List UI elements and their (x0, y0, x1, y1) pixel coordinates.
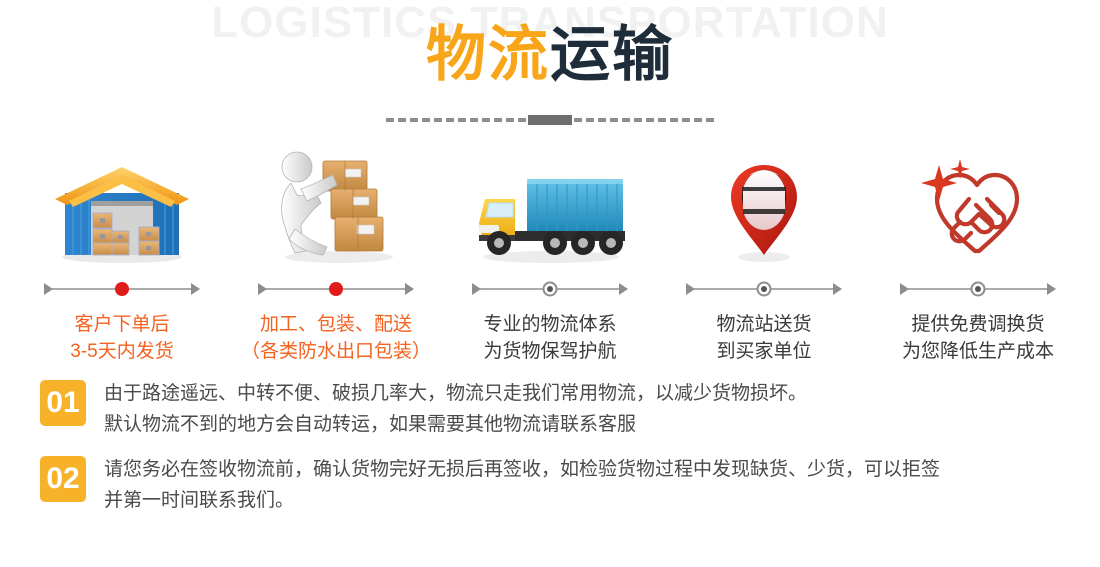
note-item-02: 02 请您务必在签收物流前，确认货物完好无损后再签收，如检验货物过程中发现缺货、… (40, 454, 1100, 516)
title-divider (0, 112, 1100, 128)
page-header: LOGISTICS TRANSPORTATION 物流运输 (0, 0, 1100, 145)
feature-item-exchange[interactable]: 提供免费调换货 为您降低生产成本 (874, 145, 1082, 365)
note-line2: 并第一时间联系我们。 (104, 485, 940, 516)
divider-dash-left (386, 118, 526, 122)
note-line2: 默认物流不到的地方会自动转运，如果需要其他物流请联系客服 (104, 409, 807, 440)
notes-list: 01 由于路途遥远、中转不便、破损几率大，物流只走我们常用物流，以减少货物损坏。… (0, 370, 1100, 516)
divider-block (528, 115, 572, 125)
feature-caption-line2: 到买家单位 (716, 338, 811, 365)
feature-slider-5 (898, 279, 1058, 299)
page-root: LOGISTICS TRANSPORTATION 物流运输 (0, 0, 1100, 567)
feature-caption-line2: （各类防水出口包装） (241, 338, 431, 365)
feature-caption-line2: 为您降低生产成本 (902, 338, 1054, 365)
feature-caption-1: 客户下单后 3-5天内发货 (70, 311, 173, 365)
feature-item-warehouse[interactable]: 客户下单后 3-5天内发货 (18, 145, 226, 365)
note-text-01: 由于路途遥远、中转不便、破损几率大，物流只走我们常用物流，以减少货物损坏。 默认… (104, 378, 807, 440)
feature-caption-3: 专业的物流体系 为货物保驾护航 (483, 311, 616, 365)
feature-caption-4: 物流站送货 到买家单位 (716, 311, 811, 365)
note-text-02: 请您务必在签收物流前，确认货物完好无损后再签收，如检验货物过程中发现缺货、少货，… (104, 454, 940, 516)
feature-caption-line2: 3-5天内发货 (70, 338, 173, 365)
feature-caption-line2: 为货物保驾护航 (483, 338, 616, 365)
feature-caption-line1: 客户下单后 (74, 314, 169, 335)
divider-dash-right (574, 118, 714, 122)
feature-slider-2 (256, 279, 416, 299)
feature-caption-line1: 加工、包装、配送 (260, 314, 412, 335)
warehouse-icon (32, 155, 212, 265)
feature-slider-4 (684, 279, 844, 299)
container-truck-icon (460, 155, 640, 265)
handshake-heart-icon (888, 155, 1068, 265)
feature-slider-1 (42, 279, 202, 299)
worker-pushing-boxes-icon (246, 155, 426, 265)
feature-item-truck[interactable]: 专业的物流体系 为货物保驾护航 (446, 145, 654, 365)
feature-item-delivery[interactable]: 物流站送货 到买家单位 (660, 145, 868, 365)
note-badge-02: 02 (40, 456, 86, 502)
map-pin-icon (674, 155, 854, 265)
page-title-orange: 物流 (426, 21, 550, 88)
feature-caption-line1: 提供免费调换货 (911, 314, 1044, 335)
note-line1: 请您务必在签收物流前，确认货物完好无损后再签收，如检验货物过程中发现缺货、少货，… (104, 454, 940, 485)
page-title: 物流运输 (0, 22, 1100, 88)
feature-caption-line1: 专业的物流体系 (483, 314, 616, 335)
page-title-dark: 运输 (550, 21, 674, 88)
feature-item-packing[interactable]: 加工、包装、配送 （各类防水出口包装） (232, 145, 440, 365)
feature-slider-3 (470, 279, 630, 299)
feature-caption-5: 提供免费调换货 为您降低生产成本 (902, 311, 1054, 365)
feature-caption-line1: 物流站送货 (716, 314, 811, 335)
note-badge-01: 01 (40, 380, 86, 426)
note-item-01: 01 由于路途遥远、中转不便、破损几率大，物流只走我们常用物流，以减少货物损坏。… (40, 378, 1100, 440)
feature-caption-2: 加工、包装、配送 （各类防水出口包装） (241, 311, 431, 365)
feature-list: 客户下单后 3-5天内发货 (0, 145, 1100, 370)
note-line1: 由于路途遥远、中转不便、破损几率大，物流只走我们常用物流，以减少货物损坏。 (104, 378, 807, 409)
